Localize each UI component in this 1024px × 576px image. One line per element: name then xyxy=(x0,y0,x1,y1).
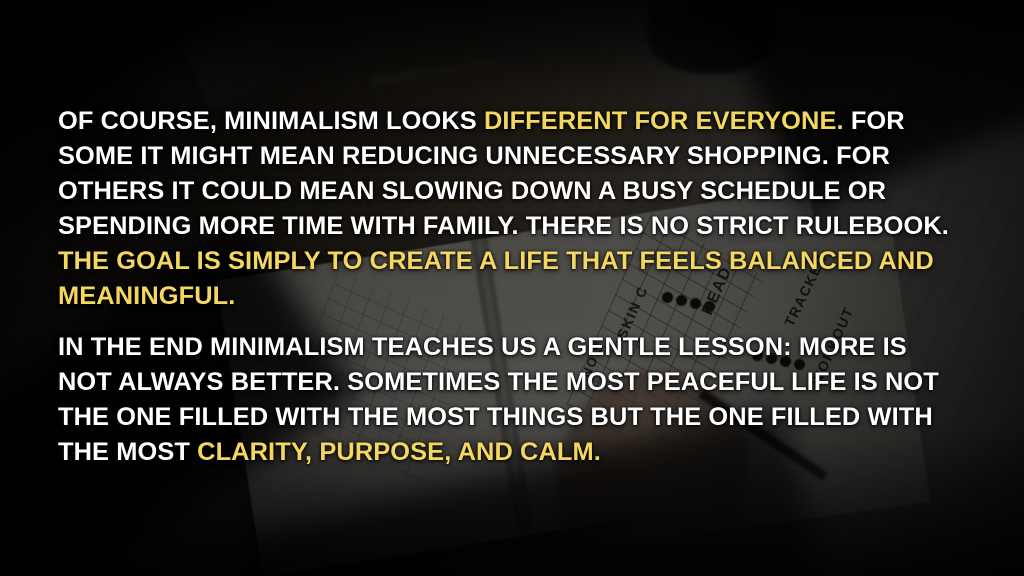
caption-block: OF COURSE, MINIMALISM LOOKS DIFFERENT FO… xyxy=(58,104,958,470)
highlighted-text-run: CLARITY, PURPOSE, AND CALM. xyxy=(197,438,601,466)
slide-canvas: READ TRACKER SKIN C WORKOUT NO S OF COUR… xyxy=(0,0,1024,576)
highlighted-text-run: THE GOAL IS SIMPLY TO CREATE A LIFE THAT… xyxy=(58,247,934,310)
paragraph-1: OF COURSE, MINIMALISM LOOKS DIFFERENT FO… xyxy=(58,104,958,314)
text-run: OF COURSE, MINIMALISM LOOKS xyxy=(58,107,484,135)
highlighted-text-run: DIFFERENT FOR EVERYONE. xyxy=(484,107,844,135)
paragraph-2: IN THE END MINIMALISM TEACHES US A GENTL… xyxy=(58,330,958,470)
